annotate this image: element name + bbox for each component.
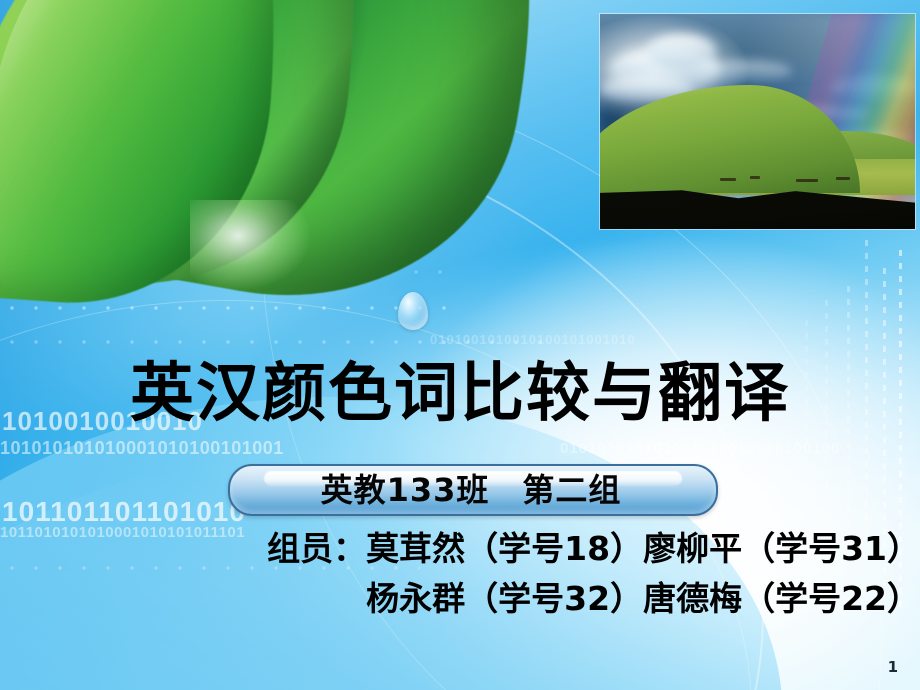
photo-ground-speck [720,178,736,181]
subtitle-pill-label: 英教133班 第二组 [228,468,714,512]
slide-title: 英汉颜色词比较与翻译 [0,358,920,430]
photo-ground-speck [836,177,850,180]
photo-cloud [646,34,716,68]
rainbow-landscape-photo [600,14,915,229]
members-line-1: 组员：莫茸然（学号18）廖柳平（学号31） [60,524,920,574]
members-block: 组员：莫茸然（学号18）廖柳平（学号31） 杨永群（学号32）唐德梅（学号22） [60,524,920,624]
presentation-slide: 1010010010010 10101010101000101010010100… [0,0,920,690]
leaf-artwork [0,0,520,390]
page-number: 1 [888,658,898,676]
members-line-2: 杨永群（学号32）唐德梅（学号22） [60,574,920,624]
photo-ground-speck [796,179,818,182]
binary-decoration-text: 101010101010001010100101001 [0,438,300,459]
binary-decoration-text: 010101010101001010010010100100 [560,440,890,457]
photo-ground-speck [750,176,760,179]
